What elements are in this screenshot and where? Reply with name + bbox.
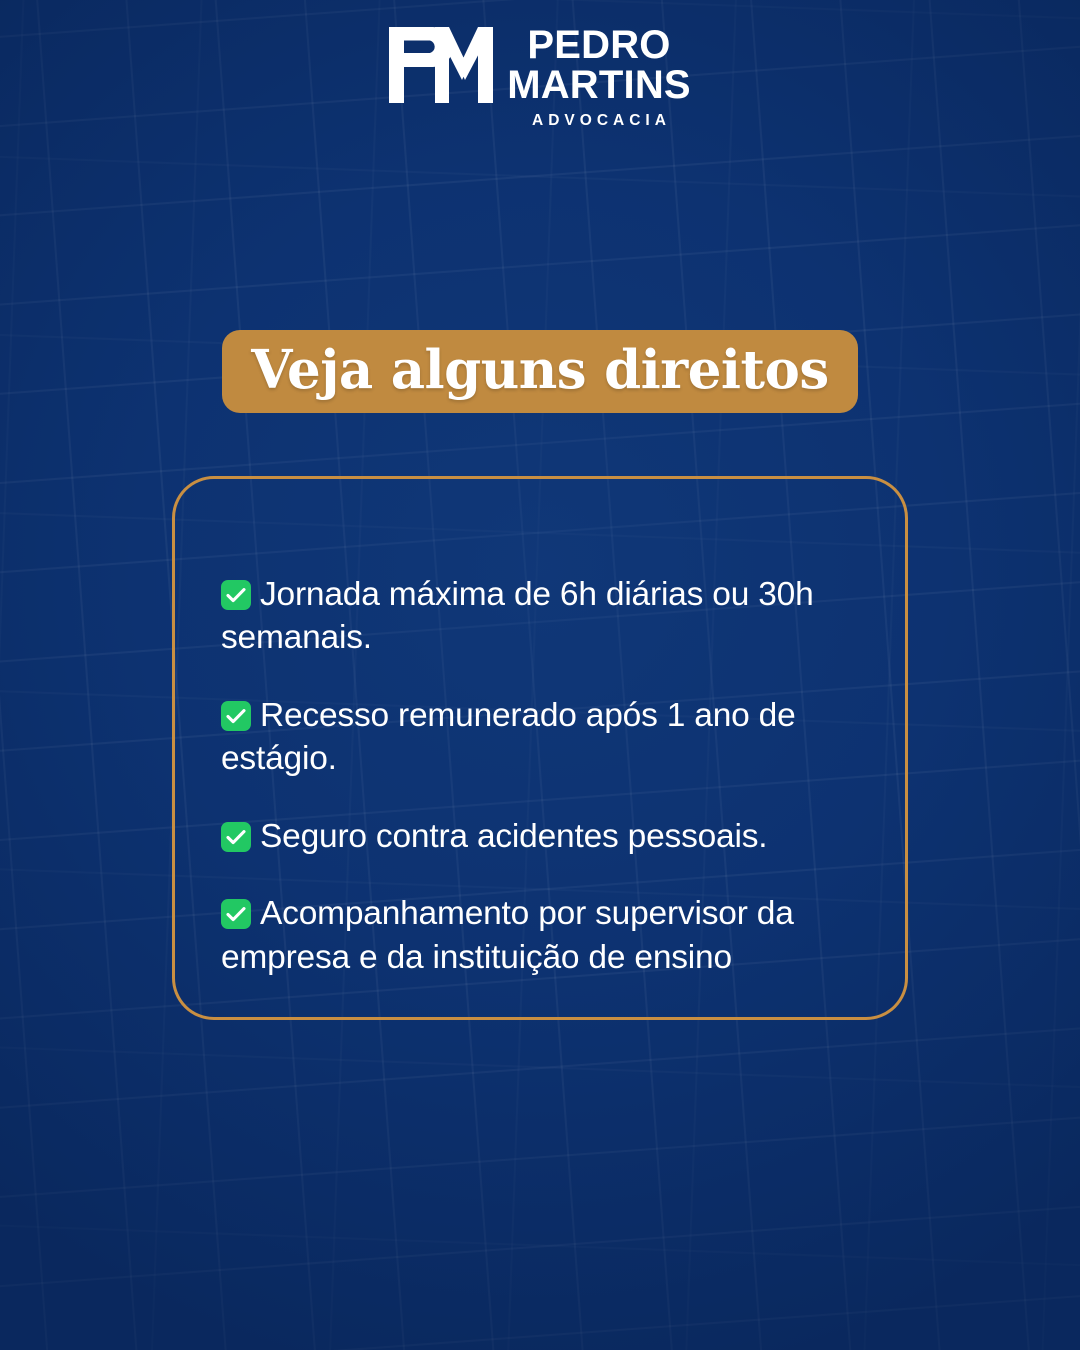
check-square-icon	[221, 899, 251, 929]
rights-list: Jornada máxima de 6h diárias ou 30h sema…	[221, 539, 873, 979]
check-square-icon	[221, 822, 251, 852]
list-item: Seguro contra acidentes pessoais.	[221, 815, 873, 859]
list-item-text: Seguro contra acidentes pessoais.	[260, 818, 767, 855]
list-item-text: Recesso remunerado após 1 ano de estágio…	[221, 697, 796, 778]
title-banner: Veja alguns direitos	[222, 330, 858, 413]
brand-header: PEDRO MARTINS ADVOCACIA	[0, 26, 1080, 130]
post-canvas: PEDRO MARTINS ADVOCACIA Veja alguns dire…	[0, 0, 1080, 1350]
rights-card: Jornada máxima de 6h diárias ou 30h sema…	[172, 476, 908, 1020]
brand-name-line-1: PEDRO	[527, 26, 670, 66]
pm-monogram-icon	[389, 27, 493, 108]
list-item: Acompanhamento por supervisor da empresa…	[221, 892, 873, 979]
list-item: Recesso remunerado após 1 ano de estágio…	[221, 694, 873, 781]
brand-tagline: ADVOCACIA	[527, 112, 671, 130]
logo-lockup: PEDRO MARTINS ADVOCACIA	[389, 26, 691, 130]
brand-name-line-2: MARTINS	[507, 66, 691, 106]
list-item-text: Acompanhamento por supervisor da empresa…	[221, 895, 794, 976]
banner-title-text: Veja alguns direitos	[251, 344, 828, 397]
check-square-icon	[221, 701, 251, 731]
list-item: Jornada máxima de 6h diárias ou 30h sema…	[221, 573, 873, 660]
check-square-icon	[221, 580, 251, 610]
brand-name-block: PEDRO MARTINS ADVOCACIA	[507, 26, 691, 130]
list-item-text: Jornada máxima de 6h diárias ou 30h sema…	[221, 576, 814, 657]
